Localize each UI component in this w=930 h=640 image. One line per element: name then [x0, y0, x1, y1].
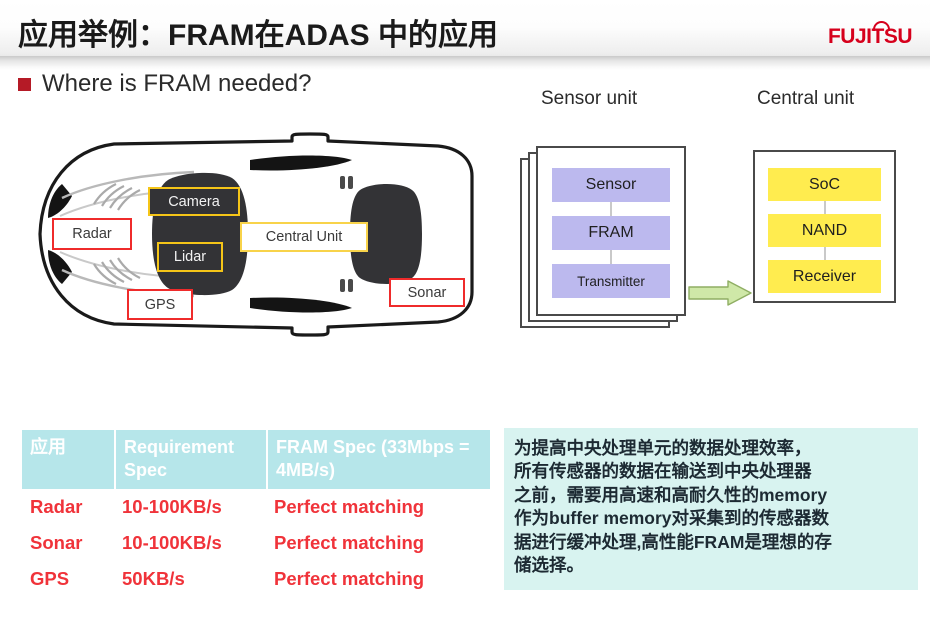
fujitsu-logo: FUJITSU	[828, 26, 912, 47]
car-label-central-unit-text: Central Unit	[266, 229, 343, 245]
car-label-gps-text: GPS	[145, 297, 176, 313]
data-flow-arrow-icon	[688, 280, 752, 306]
sensor-unit-block-sensor: Sensor	[552, 168, 670, 202]
header-shine-divider	[0, 56, 930, 70]
sensor-unit-block-fram: FRAM	[552, 216, 670, 250]
table-row: GPS 50KB/s Perfect matching	[22, 561, 490, 597]
note-box: 为提高中央处理单元的数据处理效率， 所有传感器的数据在输送到中央处理器 之前，需…	[504, 428, 918, 590]
table-header-requirement: Requirement Spec	[114, 430, 266, 489]
table-row: Sonar 10-100KB/s Perfect matching	[22, 525, 490, 561]
section-heading: Where is FRAM needed?	[18, 70, 311, 98]
note-line: 为提高中央处理单元的数据处理效率，	[514, 437, 908, 460]
car-label-lidar: Lidar	[157, 242, 223, 272]
table-cell-requirement: 10-100KB/s	[114, 532, 266, 554]
car-label-camera-text: Camera	[168, 194, 220, 210]
central-unit-block-nand-label: NAND	[802, 222, 847, 240]
central-unit-block-soc: SoC	[768, 168, 881, 201]
table-cell-requirement: 50KB/s	[114, 568, 266, 590]
sensor-unit-block-fram-label: FRAM	[588, 224, 633, 242]
car-label-lidar-text: Lidar	[174, 249, 206, 265]
table-cell-fram: Perfect matching	[266, 568, 490, 590]
car-label-gps: GPS	[127, 289, 193, 320]
fujitsu-logo-text: FUJITSU	[828, 25, 912, 48]
spec-table: 应用 Requirement Spec FRAM Spec (33Mbps = …	[22, 430, 490, 597]
car-label-central-unit: Central Unit	[240, 222, 368, 252]
table-cell-app: GPS	[22, 568, 114, 590]
slide-root: 应用举例：FRAM在ADAS 中的应用 FUJITSU Where is FRA…	[0, 0, 930, 640]
table-header-app: 应用	[22, 430, 114, 489]
car-label-radar: Radar	[52, 218, 132, 250]
sensor-unit-block-transmitter: Transmitter	[552, 264, 670, 298]
note-line: 储选择。	[514, 554, 908, 577]
sensor-unit-caption: Sensor unit	[541, 88, 637, 110]
table-cell-app: Radar	[22, 496, 114, 518]
central-unit-block-soc-label: SoC	[809, 176, 840, 194]
table-cell-fram: Perfect matching	[266, 496, 490, 518]
car-diagram: Radar Camera Lidar Central Unit GPS Sona…	[22, 132, 482, 337]
note-line: 所有传感器的数据在输送到中央处理器	[514, 460, 908, 483]
table-cell-fram: Perfect matching	[266, 532, 490, 554]
car-label-sonar-text: Sonar	[408, 285, 447, 301]
note-line: 据进行缓冲处理,高性能FRAM是理想的存	[514, 531, 908, 554]
central-unit-block-receiver: Receiver	[768, 260, 881, 293]
sensor-unit-block-sensor-label: Sensor	[586, 176, 637, 194]
table-row: Radar 10-100KB/s Perfect matching	[22, 489, 490, 525]
table-header-row: 应用 Requirement Spec FRAM Spec (33Mbps = …	[22, 430, 490, 489]
square-bullet-icon	[18, 78, 31, 91]
sensor-unit-block-transmitter-label: Transmitter	[577, 274, 645, 289]
fujitsu-arc-icon	[873, 21, 890, 31]
note-line: 作为buffer memory对采集到的传感器数	[514, 507, 908, 530]
note-line: 之前，需要用高速和高耐久性的memory	[514, 484, 908, 507]
page-title: 应用举例：FRAM在ADAS 中的应用	[18, 10, 498, 54]
table-cell-app: Sonar	[22, 532, 114, 554]
table-header-fram-spec: FRAM Spec (33Mbps = 4MB/s)	[266, 430, 490, 489]
car-label-radar-text: Radar	[72, 226, 112, 242]
central-unit-block-nand: NAND	[768, 214, 881, 247]
central-unit-block-receiver-label: Receiver	[793, 268, 856, 286]
table-cell-requirement: 10-100KB/s	[114, 496, 266, 518]
car-label-camera: Camera	[148, 187, 240, 216]
section-heading-label: Where is FRAM needed?	[42, 70, 311, 98]
car-label-sonar: Sonar	[389, 278, 465, 307]
central-unit-caption: Central unit	[757, 88, 854, 110]
